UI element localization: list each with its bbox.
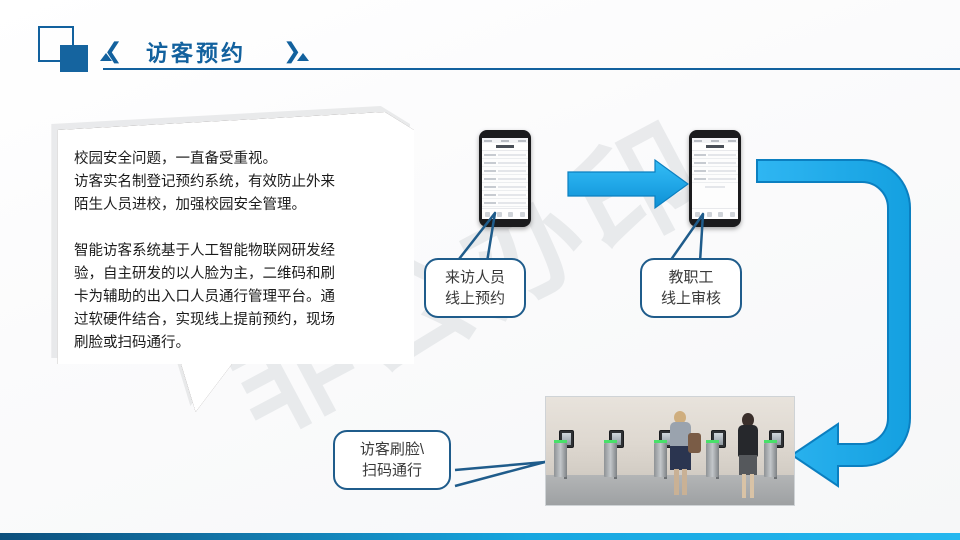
photo-person <box>734 413 764 503</box>
turnstile-gate <box>706 443 719 477</box>
callout-tail-gate <box>455 462 545 486</box>
photo-person <box>664 411 698 503</box>
callout-tail-staff <box>668 214 703 264</box>
turnstile-gate <box>604 443 617 477</box>
turnstile-gate <box>554 443 567 477</box>
turnstile-photo <box>545 396 795 506</box>
turnstile-gate <box>764 443 777 477</box>
bottom-accent-bar <box>0 533 960 540</box>
slide-canvas: 非公办印 ❮ 访客预约 ❯ 校园安全问题，一直备受重视。 访客实名制登记预约系统… <box>0 0 960 540</box>
arrow-right-icon <box>568 160 688 208</box>
callout-visitor-booking[interactable]: 来访人员 线上预约 <box>424 258 526 318</box>
callout-gate-pass[interactable]: 访客刷脸\ 扫码通行 <box>333 430 451 490</box>
callout-staff-review[interactable]: 教职工 线上审核 <box>640 258 742 318</box>
